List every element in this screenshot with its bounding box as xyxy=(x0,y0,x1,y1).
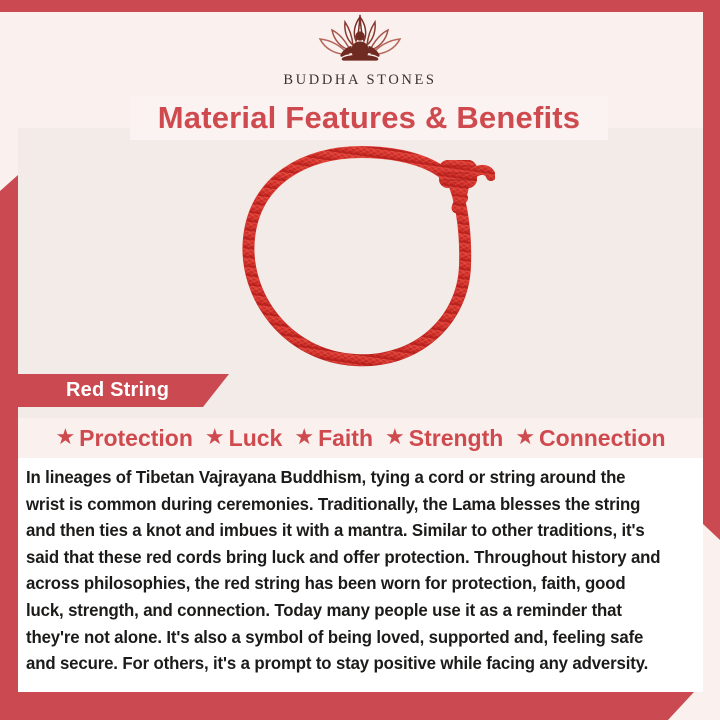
benefit-item-luck: ★ Luck xyxy=(199,425,288,452)
frame-bar-left xyxy=(0,175,18,720)
star-icon: ★ xyxy=(55,426,75,448)
frame-bar-top xyxy=(0,0,720,12)
benefit-item-connection: ★ Connection xyxy=(509,425,671,452)
benefit-item-protection: ★ Protection xyxy=(49,425,198,452)
benefits-list: ★ Protection ★ Luck ★ Faith ★ Strength ★… xyxy=(18,420,703,456)
benefit-label: Protection xyxy=(79,425,193,452)
benefit-label: Luck xyxy=(229,425,283,452)
benefit-label: Connection xyxy=(539,425,666,452)
benefit-label: Faith xyxy=(318,425,373,452)
section-ribbon: Red String xyxy=(17,374,229,407)
description-text: In lineages of Tibetan Vajrayana Buddhis… xyxy=(26,464,665,677)
brand-name: BUDDHA STONES xyxy=(283,72,436,89)
star-icon: ★ xyxy=(294,426,314,448)
benefit-label: Strength xyxy=(409,425,504,452)
hero-section xyxy=(18,140,703,380)
star-icon: ★ xyxy=(515,426,535,448)
star-icon: ★ xyxy=(205,426,225,448)
lotus-meditation-figure-icon xyxy=(301,14,419,70)
description-block: In lineages of Tibetan Vajrayana Buddhis… xyxy=(18,458,703,692)
benefit-item-strength: ★ Strength xyxy=(379,425,509,452)
benefit-item-faith: ★ Faith xyxy=(288,425,379,452)
star-icon: ★ xyxy=(385,426,405,448)
brand-logo: BUDDHA STONES xyxy=(0,14,720,96)
infographic-root: BUDDHA STONES Material Features & Benefi… xyxy=(0,0,720,720)
title-banner: Material Features & Benefits xyxy=(130,96,608,140)
frame-bar-bottom xyxy=(0,692,694,720)
page-title: Material Features & Benefits xyxy=(158,100,581,136)
red-braided-string-bracelet-image xyxy=(227,146,495,374)
section-ribbon-label: Red String xyxy=(17,379,169,402)
